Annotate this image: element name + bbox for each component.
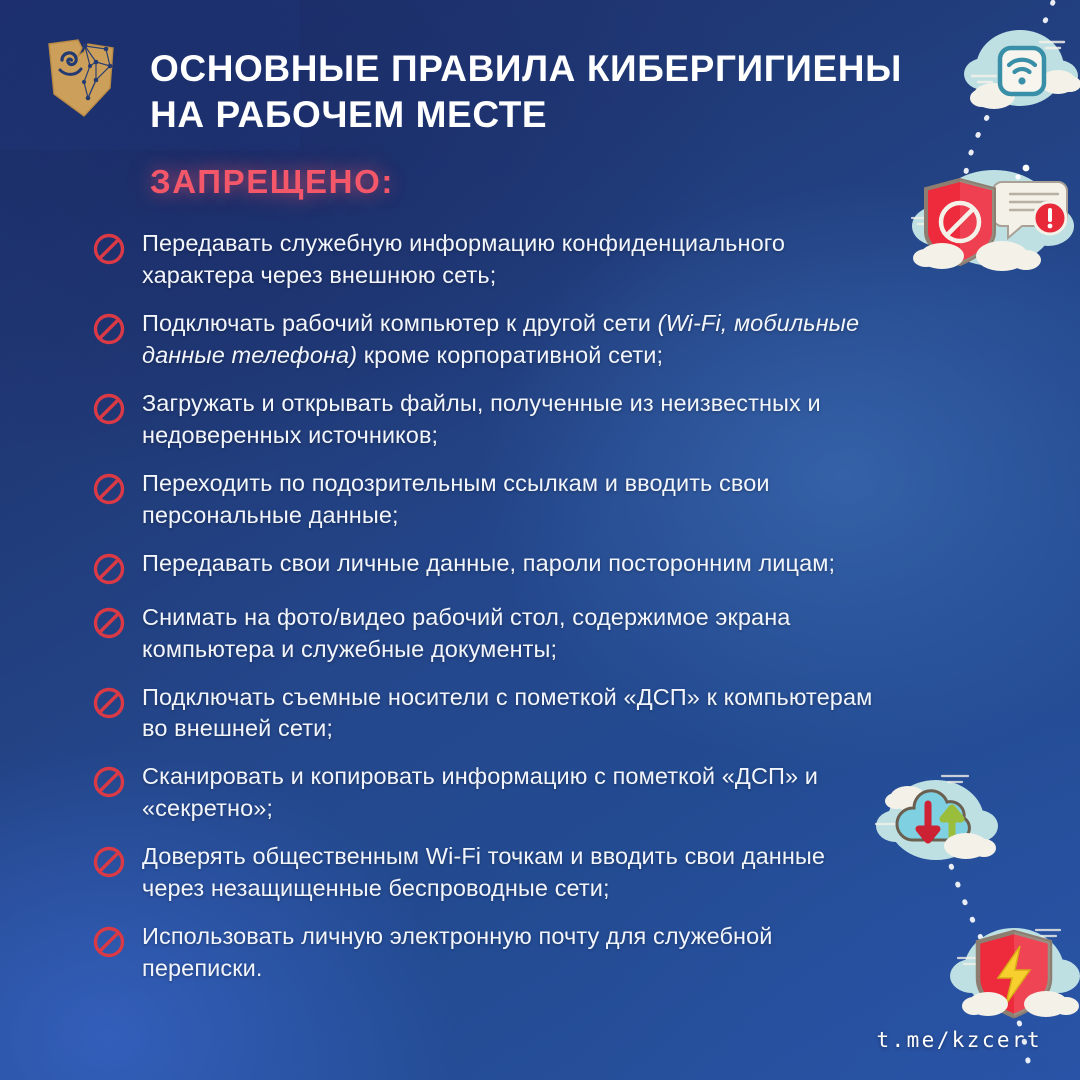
rule-text: Передавать свои личные данные, пароли по… — [142, 548, 835, 580]
rule-text: Доверять общественным Wi-Fi точкам и вво… — [142, 841, 892, 905]
list-item: Подключать рабочий компьютер к другой се… — [92, 308, 892, 372]
rule-text: Передавать служебную информацию конфиден… — [142, 228, 892, 292]
prohibition-icon — [92, 925, 126, 959]
prohibition-icon — [92, 472, 126, 506]
prohibition-icon — [92, 686, 126, 720]
telegram-handle[interactable]: t.me/kzcert — [877, 1028, 1042, 1052]
prohibition-icon — [92, 606, 126, 640]
list-item: Сканировать и копировать информацию с по… — [92, 761, 892, 825]
prohibition-icon — [92, 845, 126, 879]
list-item: Снимать на фото/видео рабочий стол, соде… — [92, 602, 892, 666]
power-shield-icon — [946, 912, 1080, 1030]
poster-canvas: ОСНОВНЫЕ ПРАВИЛА КИБЕРГИГИЕНЫ НА РАБОЧЕМ… — [0, 0, 1080, 1080]
rule-text: Загружать и открывать файлы, полученные … — [142, 388, 892, 452]
kz-cert-shield-logo — [44, 36, 118, 120]
list-item: Передавать свои личные данные, пароли по… — [92, 548, 892, 586]
list-item: Переходить по подозрительным ссылкам и в… — [92, 468, 892, 532]
prohibition-icon — [92, 392, 126, 426]
cloud-sync-icon — [874, 768, 1006, 876]
list-item: Подключать съемные носители с пометкой «… — [92, 682, 892, 746]
list-item: Использовать личную электронную почту дл… — [92, 921, 892, 985]
prohibition-icon — [92, 232, 126, 266]
wifi-cloud-icon — [954, 12, 1080, 132]
page-title: ОСНОВНЫЕ ПРАВИЛА КИБЕРГИГИЕНЫ НА РАБОЧЕМ… — [150, 46, 950, 139]
list-item: Доверять общественным Wi-Fi точкам и вво… — [92, 841, 892, 905]
prohibition-icon — [92, 765, 126, 799]
prohibition-icon — [92, 312, 126, 346]
rule-text: Переходить по подозрительным ссылкам и в… — [142, 468, 892, 532]
rule-text: Использовать личную электронную почту дл… — [142, 921, 892, 985]
section-subtitle-prohibited: ЗАПРЕЩЕНО: — [150, 163, 394, 201]
blocked-shield-icon — [898, 156, 1080, 282]
list-item: Передавать служебную информацию конфиден… — [92, 228, 892, 292]
prohibited-rules-list: Передавать служебную информацию конфиден… — [92, 228, 892, 1001]
list-item: Загружать и открывать файлы, полученные … — [92, 388, 892, 452]
rule-text: Сканировать и копировать информацию с по… — [142, 761, 892, 825]
rule-text: Подключать съемные носители с пометкой «… — [142, 682, 892, 746]
rule-text: Подключать рабочий компьютер к другой се… — [142, 308, 892, 372]
rule-text: Снимать на фото/видео рабочий стол, соде… — [142, 602, 892, 666]
prohibition-icon — [92, 552, 126, 586]
